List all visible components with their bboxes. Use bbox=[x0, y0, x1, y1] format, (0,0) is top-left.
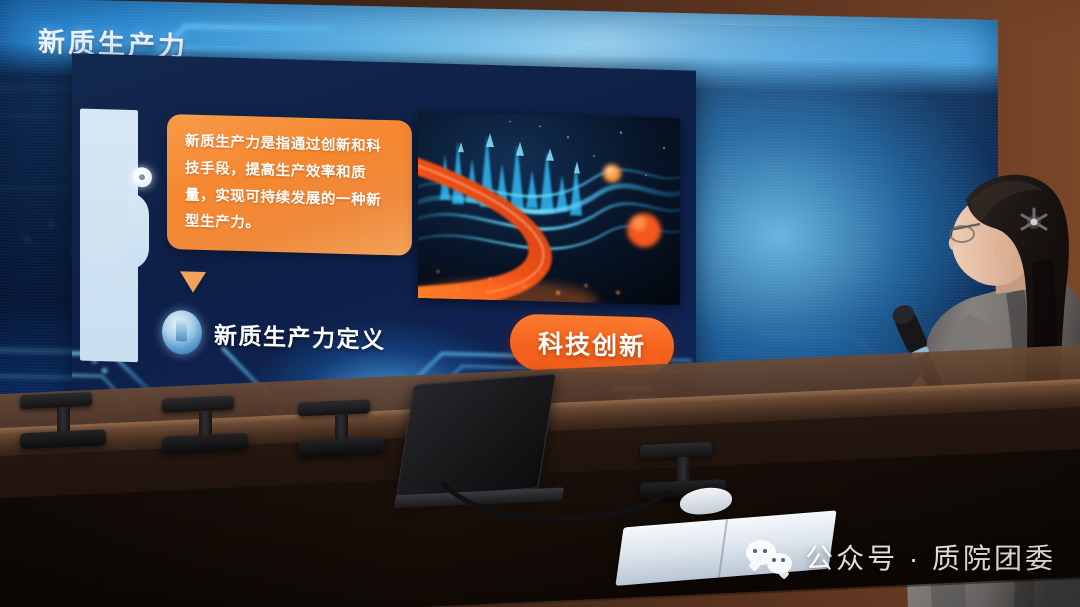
photo-scene: 新质生产力 bbox=[0, 0, 1080, 607]
wechat-bubble-small bbox=[767, 553, 792, 574]
watermark-text: 公众号 · 质院团委 bbox=[805, 537, 1056, 577]
desk-microphone bbox=[162, 395, 248, 453]
slide-legend: 新质生产力定义 bbox=[162, 310, 386, 360]
laptop-cable bbox=[440, 470, 670, 532]
mic-neck bbox=[677, 457, 690, 484]
desk-microphone bbox=[298, 399, 384, 457]
wechat-watermark: 公众号 · 质院团委 bbox=[746, 537, 1056, 577]
mic-neck bbox=[57, 407, 70, 434]
pill-button-label: 科技创新 bbox=[538, 330, 646, 361]
wechat-icon bbox=[746, 540, 792, 574]
desk-microphone bbox=[20, 391, 106, 449]
definition-text: 新质生产力是指通过创新和科技手段，提高生产效率和质量，实现可持续发展的一种新型生… bbox=[185, 128, 396, 241]
globe-icon bbox=[162, 310, 202, 355]
slide-side-panel bbox=[80, 109, 138, 363]
mic-neck bbox=[335, 414, 348, 441]
definition-speech-bubble: 新质生产力是指通过创新和科技手段，提高生产效率和质量，实现可持续发展的一种新型生… bbox=[167, 114, 412, 256]
speech-bubble-tail bbox=[180, 271, 206, 293]
slide-illustration bbox=[418, 111, 680, 305]
slide-node-icon bbox=[132, 167, 152, 188]
slide-legend-label: 新质生产力定义 bbox=[214, 316, 386, 355]
mic-neck bbox=[199, 410, 212, 437]
